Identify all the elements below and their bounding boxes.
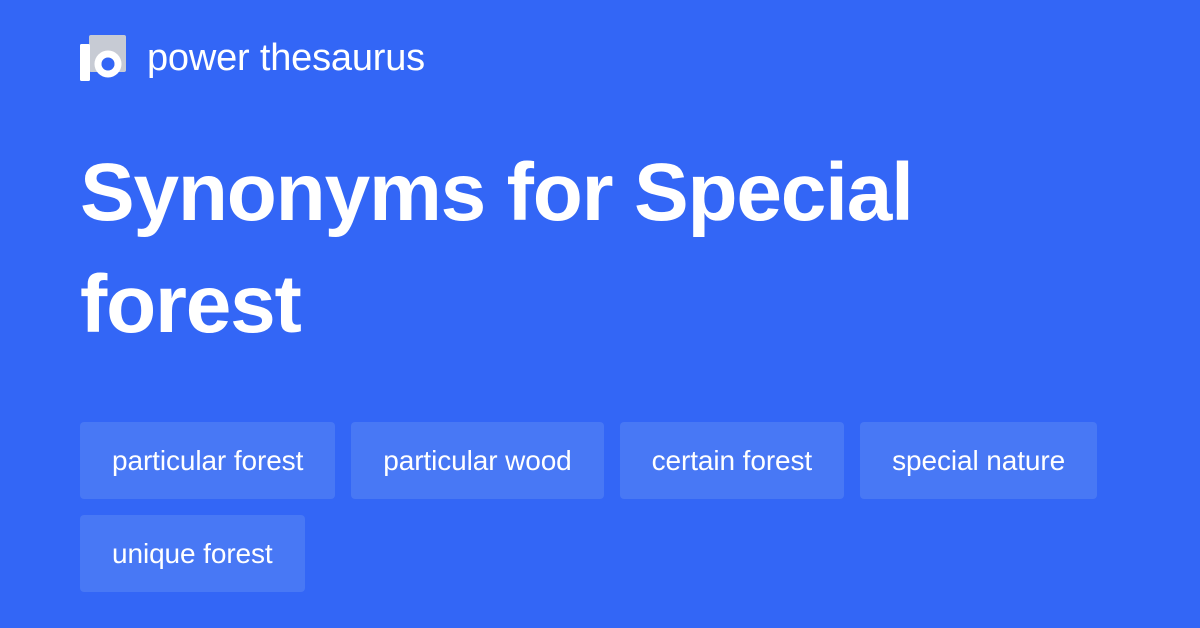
social-share-card: power thesaurus Synonyms for Special for… xyxy=(0,0,1200,628)
synonym-chip[interactable]: special nature xyxy=(860,422,1097,499)
brand-name: power thesaurus xyxy=(147,35,425,81)
brand-header[interactable]: power thesaurus xyxy=(80,30,425,86)
page-title-line-2: forest xyxy=(80,249,1120,361)
synonym-list: particular forest particular wood certai… xyxy=(80,422,1120,592)
page-title-line-1: Synonyms for Special xyxy=(80,137,1120,249)
power-thesaurus-b-logo-icon xyxy=(80,35,126,81)
synonym-chip[interactable]: particular forest xyxy=(80,422,335,499)
synonym-chip[interactable]: certain forest xyxy=(620,422,844,499)
synonym-chip[interactable]: particular wood xyxy=(351,422,603,499)
synonym-chip[interactable]: unique forest xyxy=(80,515,305,592)
page-title: Synonyms for Special forest xyxy=(80,137,1120,361)
